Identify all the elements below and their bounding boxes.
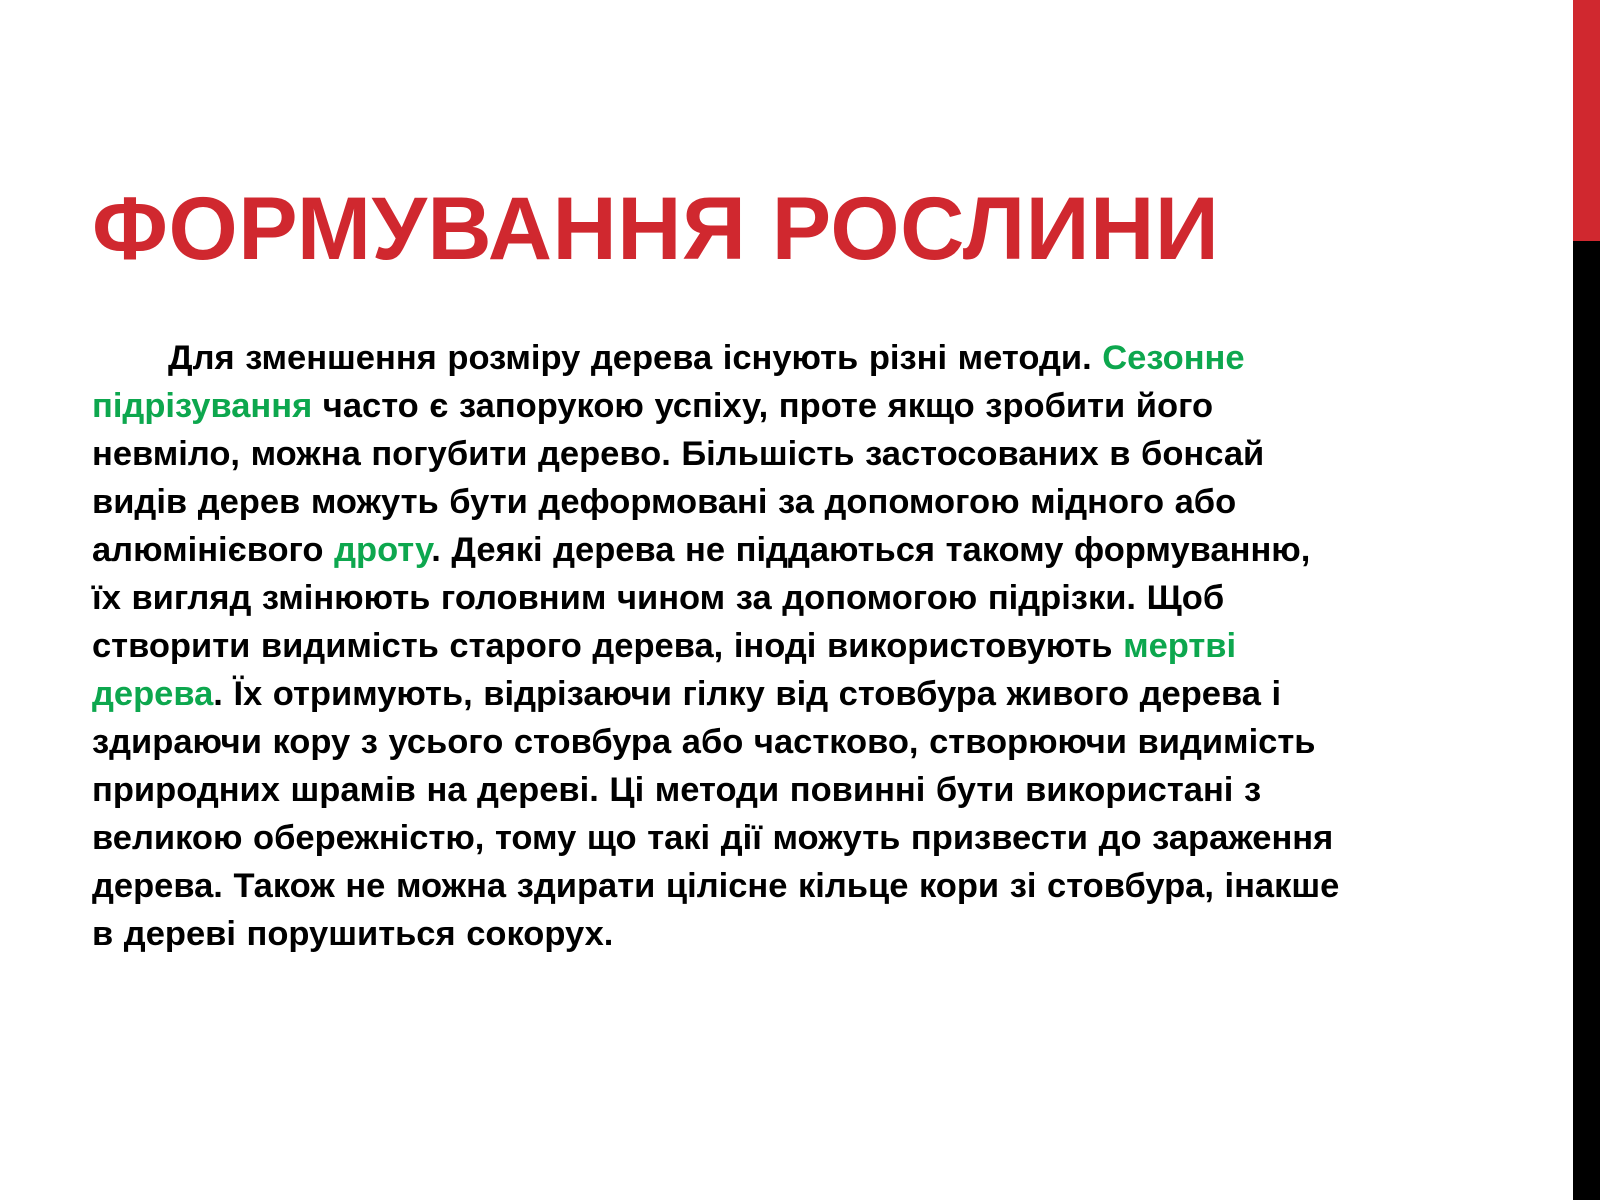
body-text-run: . Їх отримують, відрізаючи гілку від сто… — [92, 675, 1339, 953]
slide-title: Формування рослини — [92, 184, 1492, 273]
body-paragraph: Для зменшення розміру дерева існують різ… — [92, 334, 1342, 958]
red-accent-bar — [1573, 0, 1600, 241]
right-edge-decoration — [1573, 0, 1600, 1200]
highlighted-term: дроту — [334, 531, 431, 569]
black-accent-bar — [1573, 241, 1600, 1200]
body-text-run: Для зменшення розміру дерева існують різ… — [168, 339, 1102, 377]
body-text-block: Для зменшення розміру дерева існують різ… — [92, 299, 1342, 992]
slide-canvas: Формування рослини Для зменшення розміру… — [0, 0, 1600, 1200]
